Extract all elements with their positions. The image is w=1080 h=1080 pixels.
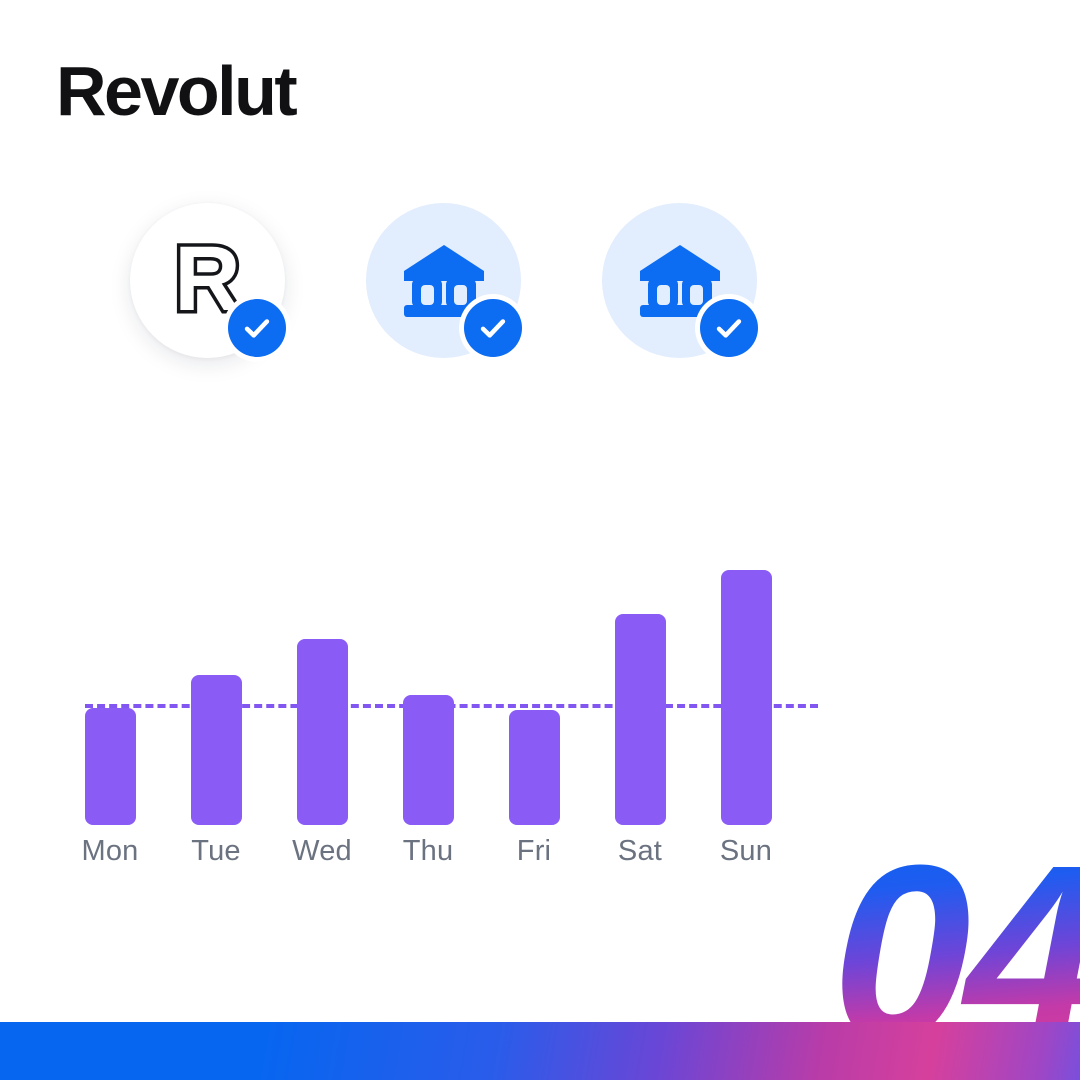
chart-bar-fri[interactable] [509,545,560,825]
account-badge-revolut[interactable]: R [130,203,285,358]
check-icon [476,311,510,345]
verified-badge-fill [700,299,758,357]
poster-canvas: Revolut R [0,0,1080,1080]
axis-label-tue: Tue [161,833,271,869]
bar-fill [509,710,560,825]
check-icon [712,311,746,345]
chart-bar-tue[interactable] [191,545,242,825]
connected-accounts-row: R [130,203,830,388]
bar-fill [85,708,136,825]
bar-fill [403,695,454,825]
bar-fill [297,639,348,825]
chart-bar-sat[interactable] [615,545,666,825]
verified-badge [223,294,291,362]
chart-bar-mon[interactable] [85,545,136,825]
bar-fill [615,614,666,825]
axis-label-sun: Sun [691,833,801,869]
chart-x-axis: MonTueWedThuFriSatSun [85,833,845,873]
verified-badge [695,294,763,362]
bar-fill [721,570,772,825]
chart-bar-sun[interactable] [721,545,772,825]
bar-fill [191,675,242,825]
account-badge-bank-1[interactable] [366,203,521,358]
axis-label-thu: Thu [373,833,483,869]
account-badge-bank-2[interactable] [602,203,757,358]
axis-label-sat: Sat [585,833,695,869]
chart-bar-wed[interactable] [297,545,348,825]
axis-label-fri: Fri [479,833,589,869]
revolut-wordmark: Revolut [56,52,476,130]
chart-bar-thu[interactable] [403,545,454,825]
footer-gradient-bar [0,1022,1080,1080]
axis-label-wed: Wed [267,833,377,869]
verified-badge [459,294,527,362]
check-icon [240,311,274,345]
weekly-spend-chart: MonTueWedThuFriSatSun [85,545,845,885]
verified-badge-fill [464,299,522,357]
chart-plot-area [85,545,845,825]
verified-badge-fill [228,299,286,357]
axis-label-mon: Mon [55,833,165,869]
